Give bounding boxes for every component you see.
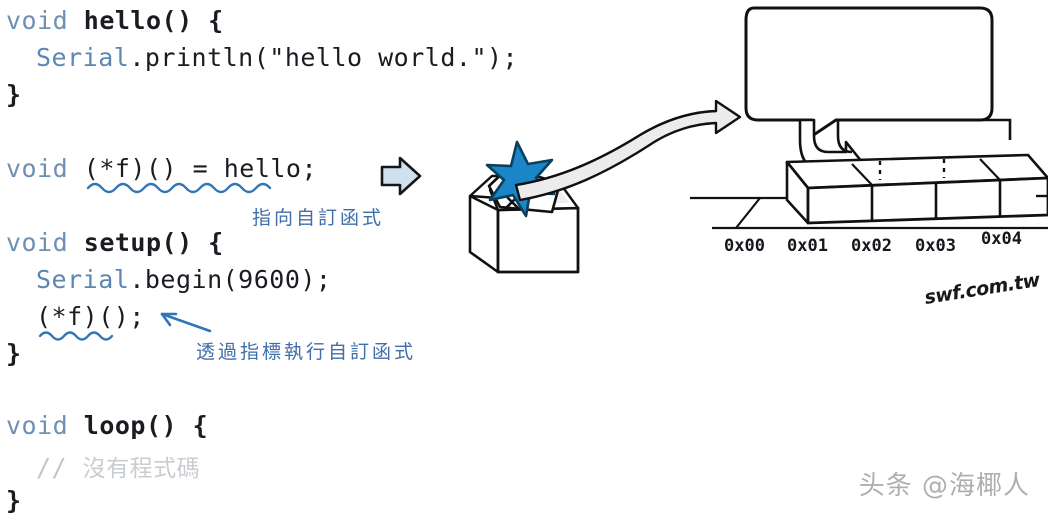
code-text: .begin(9600); [129,265,331,294]
code-line-1: void hello() { [6,6,224,35]
memory-address-4: 0x04 [981,229,1022,249]
annotation-point-to-function: 指向自訂函式 [252,203,384,230]
ampersand-pointer-symbol: & [798,168,838,214]
code-keyword-void: void [6,228,68,257]
code-text: loop() { [68,411,208,440]
annotation-call-via-pointer: 透過指標執行自訂函式 [196,337,416,364]
code-text: hello() { [68,6,224,35]
code-line-11: } [6,486,22,515]
code-line-4: void (*f)() = hello; [6,154,317,183]
box-label-f: f [533,226,544,261]
memory-cells-diagram [690,155,1048,228]
code-line-7: (*f)(); [36,302,145,331]
code-keyword-void: void [6,6,68,35]
code-keyword-void: void [6,154,68,183]
bubble-code-line-3: } [762,86,776,112]
code-panel: void hello() { Serial.println("hello wor… [0,0,560,520]
bubble-code-ellipsis: : [798,50,812,76]
memory-address-1: 0x01 [787,236,828,256]
bubble-label-custom-function: 自訂函式 [868,84,964,116]
code-text: setup() { [68,228,224,257]
code-line-8: } [6,339,22,368]
author-watermark: 头条 @海椰人 [859,465,1030,502]
memory-address-3: 0x03 [915,236,956,256]
code-text: .println("hello world."); [129,43,518,72]
code-keyword-void: void [762,18,819,44]
comment-text: 沒有程式碼 [83,456,201,482]
code-line-9: void loop() { [6,411,208,440]
code-keyword-serial: Serial [36,43,129,72]
memory-address-2: 0x02 [851,236,892,256]
code-text: (*f)() = hello; [68,154,317,183]
bubble-code-line-1: void hello() { [762,18,963,44]
code-line-6: Serial.begin(9600); [36,265,331,294]
code-line-5: void setup() { [6,228,224,257]
code-line-2: Serial.println("hello world."); [36,43,518,72]
code-keyword-void: void [6,411,68,440]
code-text: hello() { [819,18,962,44]
code-keyword-serial: Serial [36,265,129,294]
comment-slashes: // [36,453,83,482]
code-line-3: } [6,80,22,109]
memory-address-0: 0x00 [724,236,765,256]
code-line-10-comment: // 沒有程式碼 [36,449,200,483]
site-logo-watermark: swf.com.tw [923,269,1041,309]
